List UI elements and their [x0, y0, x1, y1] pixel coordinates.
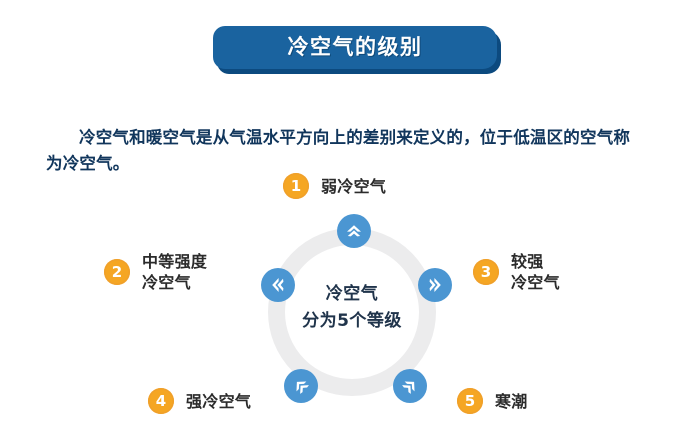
legend-badge-1: 1 [283, 173, 309, 199]
legend-item-4: 4 强冷空气 [148, 388, 251, 414]
arrow-right-icon [418, 268, 452, 302]
legend-label-3: 较强 冷空气 [511, 251, 560, 293]
legend-label-5: 寒潮 [495, 391, 528, 412]
legend-label-4: 强冷空气 [186, 391, 251, 412]
diagram-center-line-2: 分为5个等级 [276, 308, 428, 335]
arrow-left-icon [261, 268, 295, 302]
legend-badge-2: 2 [104, 259, 130, 285]
legend-item-3: 3 较强 冷空气 [473, 251, 560, 293]
legend-badge-3: 3 [473, 259, 499, 285]
intro-paragraph: 冷空气和暖空气是从气温水平方向上的差别来定义的，位于低温区的空气称为冷空气。 [46, 125, 646, 177]
legend-badge-4: 4 [148, 388, 174, 414]
legend-badge-5: 5 [457, 388, 483, 414]
arrow-down-right-icon [393, 369, 427, 403]
legend-label-1: 弱冷空气 [321, 176, 386, 197]
page-title: 冷空气的级别 [288, 37, 423, 58]
diagram-center-line-1: 冷空气 [276, 281, 428, 308]
slide-canvas: 冷空气的级别 冷空气和暖空气是从气温水平方向上的差别来定义的，位于低温区的空气称… [0, 0, 692, 448]
diagram-center-text: 冷空气 分为5个等级 [276, 281, 428, 335]
legend-item-1: 1 弱冷空气 [283, 173, 386, 199]
legend-item-5: 5 寒潮 [457, 388, 528, 414]
arrow-down-left-icon [284, 369, 318, 403]
arrow-up-icon [337, 214, 371, 248]
title-banner: 冷空气的级别 [213, 26, 501, 74]
legend-label-2: 中等强度 冷空气 [142, 251, 207, 293]
legend-item-2: 2 中等强度 冷空气 [104, 251, 207, 293]
title-banner-body: 冷空气的级别 [213, 26, 497, 69]
